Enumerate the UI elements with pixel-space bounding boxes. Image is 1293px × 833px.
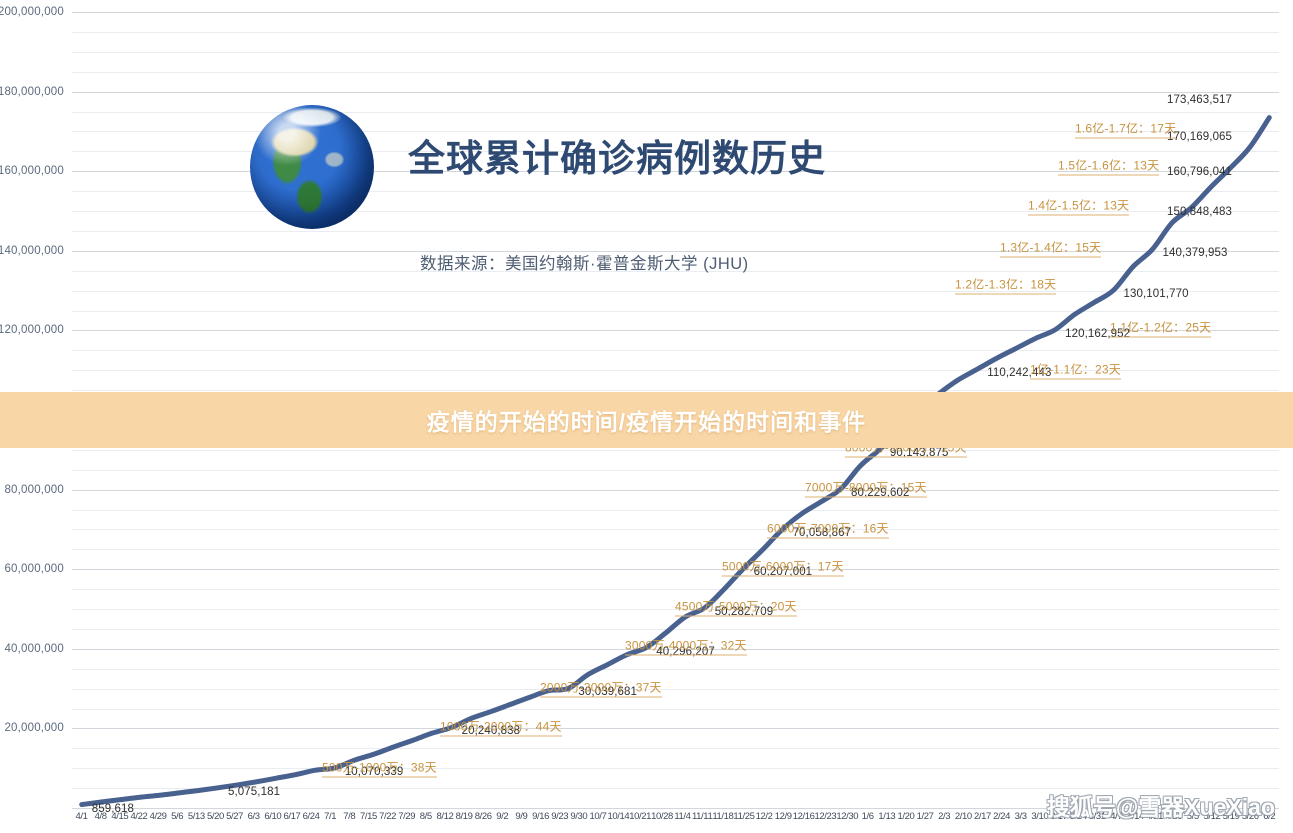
interval-annotation-label: 6000万-7000万：16天 bbox=[767, 520, 889, 539]
data-point-label: 140,379,953 bbox=[1162, 247, 1227, 259]
y-axis-tick-label: 120,000,000 bbox=[0, 324, 64, 336]
x-axis-tick-label: 6/3 bbox=[244, 811, 263, 822]
globe-icon bbox=[250, 105, 374, 229]
y-axis-tick-label: 40,000,000 bbox=[4, 643, 64, 655]
x-axis-tick-label: 5/20 bbox=[206, 811, 225, 822]
x-axis-tick-label: 12/23 bbox=[815, 811, 837, 822]
chart-page: 200,000,000180,000,000160,000,000140,000… bbox=[0, 0, 1293, 833]
x-axis-tick-label: 4/29 bbox=[149, 811, 168, 822]
x-axis-tick-label: 10/14 bbox=[608, 811, 630, 822]
x-axis-tick-label: 5/13 bbox=[187, 811, 206, 822]
x-axis-tick-label: 10/21 bbox=[629, 811, 651, 822]
y-axis-tick-label: 20,000,000 bbox=[4, 722, 64, 734]
page-title: 全球累计确诊病例数历史 bbox=[408, 128, 826, 182]
x-axis-tick-label: 12/16 bbox=[793, 811, 815, 822]
x-axis-tick-label: 8/5 bbox=[416, 811, 435, 822]
x-axis-tick-label: 3/3 bbox=[1011, 811, 1030, 822]
x-axis-tick-label: 9/30 bbox=[569, 811, 588, 822]
interval-annotation-label: 1.5亿-1.6亿：13天 bbox=[1058, 157, 1159, 176]
x-axis-tick-label: 7/22 bbox=[378, 811, 397, 822]
x-axis-tick-label: 1/27 bbox=[915, 811, 934, 822]
x-axis-tick-label: 11/4 bbox=[673, 811, 692, 822]
x-axis-tick-label: 4/15 bbox=[110, 811, 129, 822]
x-axis-tick-label: 8/19 bbox=[455, 811, 474, 822]
watermark: 搜狐号@雪器XueXiao bbox=[1047, 788, 1275, 822]
x-axis-tick-label: 6/17 bbox=[282, 811, 301, 822]
interval-annotation-label: 3000万-4000万：32天 bbox=[625, 637, 747, 656]
x-axis-tick-label: 10/7 bbox=[588, 811, 607, 822]
interval-annotation-label: 1.2亿-1.3亿：18天 bbox=[955, 276, 1056, 295]
y-axis-tick-label: 60,000,000 bbox=[4, 563, 64, 575]
x-axis-tick-label: 2/17 bbox=[973, 811, 992, 822]
x-axis-tick-label: 8/26 bbox=[474, 811, 493, 822]
interval-annotation-label: 1.3亿-1.4亿：15天 bbox=[1000, 239, 1101, 258]
x-axis-tick-label: 9/9 bbox=[512, 811, 531, 822]
x-axis-tick-label: 5/6 bbox=[168, 811, 187, 822]
x-axis-tick-label: 2/24 bbox=[992, 811, 1011, 822]
x-axis-tick-label: 11/18 bbox=[712, 811, 733, 822]
data-point-label: 5,075,181 bbox=[228, 786, 280, 798]
x-axis-tick-label: 12/9 bbox=[774, 811, 793, 822]
data-point-label: 130,101,770 bbox=[1124, 288, 1189, 300]
y-axis-tick-label: 140,000,000 bbox=[0, 245, 64, 257]
x-axis-tick-label: 9/23 bbox=[550, 811, 569, 822]
x-axis-tick-label: 1/6 bbox=[858, 811, 877, 822]
x-axis-tick-label: 7/15 bbox=[359, 811, 378, 822]
data-point-label: 160,796,041 bbox=[1167, 166, 1232, 178]
x-axis-tick-label: 2/3 bbox=[935, 811, 954, 822]
x-axis-tick-label: 4/22 bbox=[129, 811, 148, 822]
interval-annotation-label: 1.1亿-1.2亿：25天 bbox=[1110, 319, 1211, 338]
data-source-note: 数据来源：美国约翰斯·霍普金斯大学 (JHU) bbox=[420, 250, 749, 274]
x-axis-tick-label: 2/10 bbox=[954, 811, 973, 822]
interval-annotation-label: 2000万-3000万：37天 bbox=[540, 679, 662, 698]
interval-annotation-label: 5000万-6000万：17天 bbox=[722, 558, 844, 577]
interval-annotation-label: 7000万-8000万：15天 bbox=[805, 479, 927, 498]
interval-annotation-label: 1000万-2000万：44天 bbox=[440, 718, 562, 737]
interval-annotation-label: 500万-1000万：38天 bbox=[322, 759, 437, 778]
y-axis-tick-label: 160,000,000 bbox=[0, 165, 64, 177]
x-axis-tick-label: 1/20 bbox=[896, 811, 915, 822]
data-point-label: 150,848,483 bbox=[1167, 206, 1232, 218]
x-axis-tick-label: 12/2 bbox=[755, 811, 774, 822]
x-axis-tick-label: 9/16 bbox=[531, 811, 550, 822]
x-axis-tick-label: 9/2 bbox=[493, 811, 512, 822]
overlay-banner-text: 疫情的开始的时间/疫情开始的时间和事件 bbox=[427, 403, 866, 437]
y-axis-tick-label: 200,000,000 bbox=[0, 6, 64, 18]
x-axis-tick-label: 10/28 bbox=[651, 811, 673, 822]
x-axis-tick-label: 11/25 bbox=[733, 811, 754, 822]
x-axis-tick-label: 7/29 bbox=[397, 811, 416, 822]
x-axis-tick-label: 6/24 bbox=[302, 811, 321, 822]
interval-annotation-label: 4500万-5000万：20天 bbox=[675, 598, 797, 617]
x-axis-tick-label: 8/12 bbox=[435, 811, 454, 822]
data-point-label: 170,169,065 bbox=[1167, 131, 1232, 143]
x-axis-tick-label: 7/1 bbox=[321, 811, 340, 822]
interval-annotation-label: 1.4亿-1.5亿：13天 bbox=[1028, 197, 1129, 216]
x-axis-tick-label: 4/8 bbox=[91, 811, 110, 822]
x-axis-tick-label: 6/10 bbox=[263, 811, 282, 822]
y-axis-tick-label: 80,000,000 bbox=[4, 484, 64, 496]
interval-annotation-label: 1亿-1.1亿：23天 bbox=[1030, 361, 1121, 380]
interval-annotation-label: 1.6亿-1.7亿：17天 bbox=[1075, 120, 1176, 139]
data-point-label: 173,463,517 bbox=[1167, 94, 1232, 106]
x-axis-tick-label: 5/27 bbox=[225, 811, 244, 822]
y-axis-tick-label: 180,000,000 bbox=[0, 86, 64, 98]
x-axis-tick-label: 7/8 bbox=[340, 811, 359, 822]
x-axis-tick-label: 12/30 bbox=[836, 811, 858, 822]
overlay-banner: 疫情的开始的时间/疫情开始的时间和事件 bbox=[0, 392, 1293, 448]
x-axis-tick-label: 1/13 bbox=[877, 811, 896, 822]
x-axis-tick-label: 11/11 bbox=[692, 811, 712, 822]
x-axis-tick-label: 4/1 bbox=[72, 811, 91, 822]
